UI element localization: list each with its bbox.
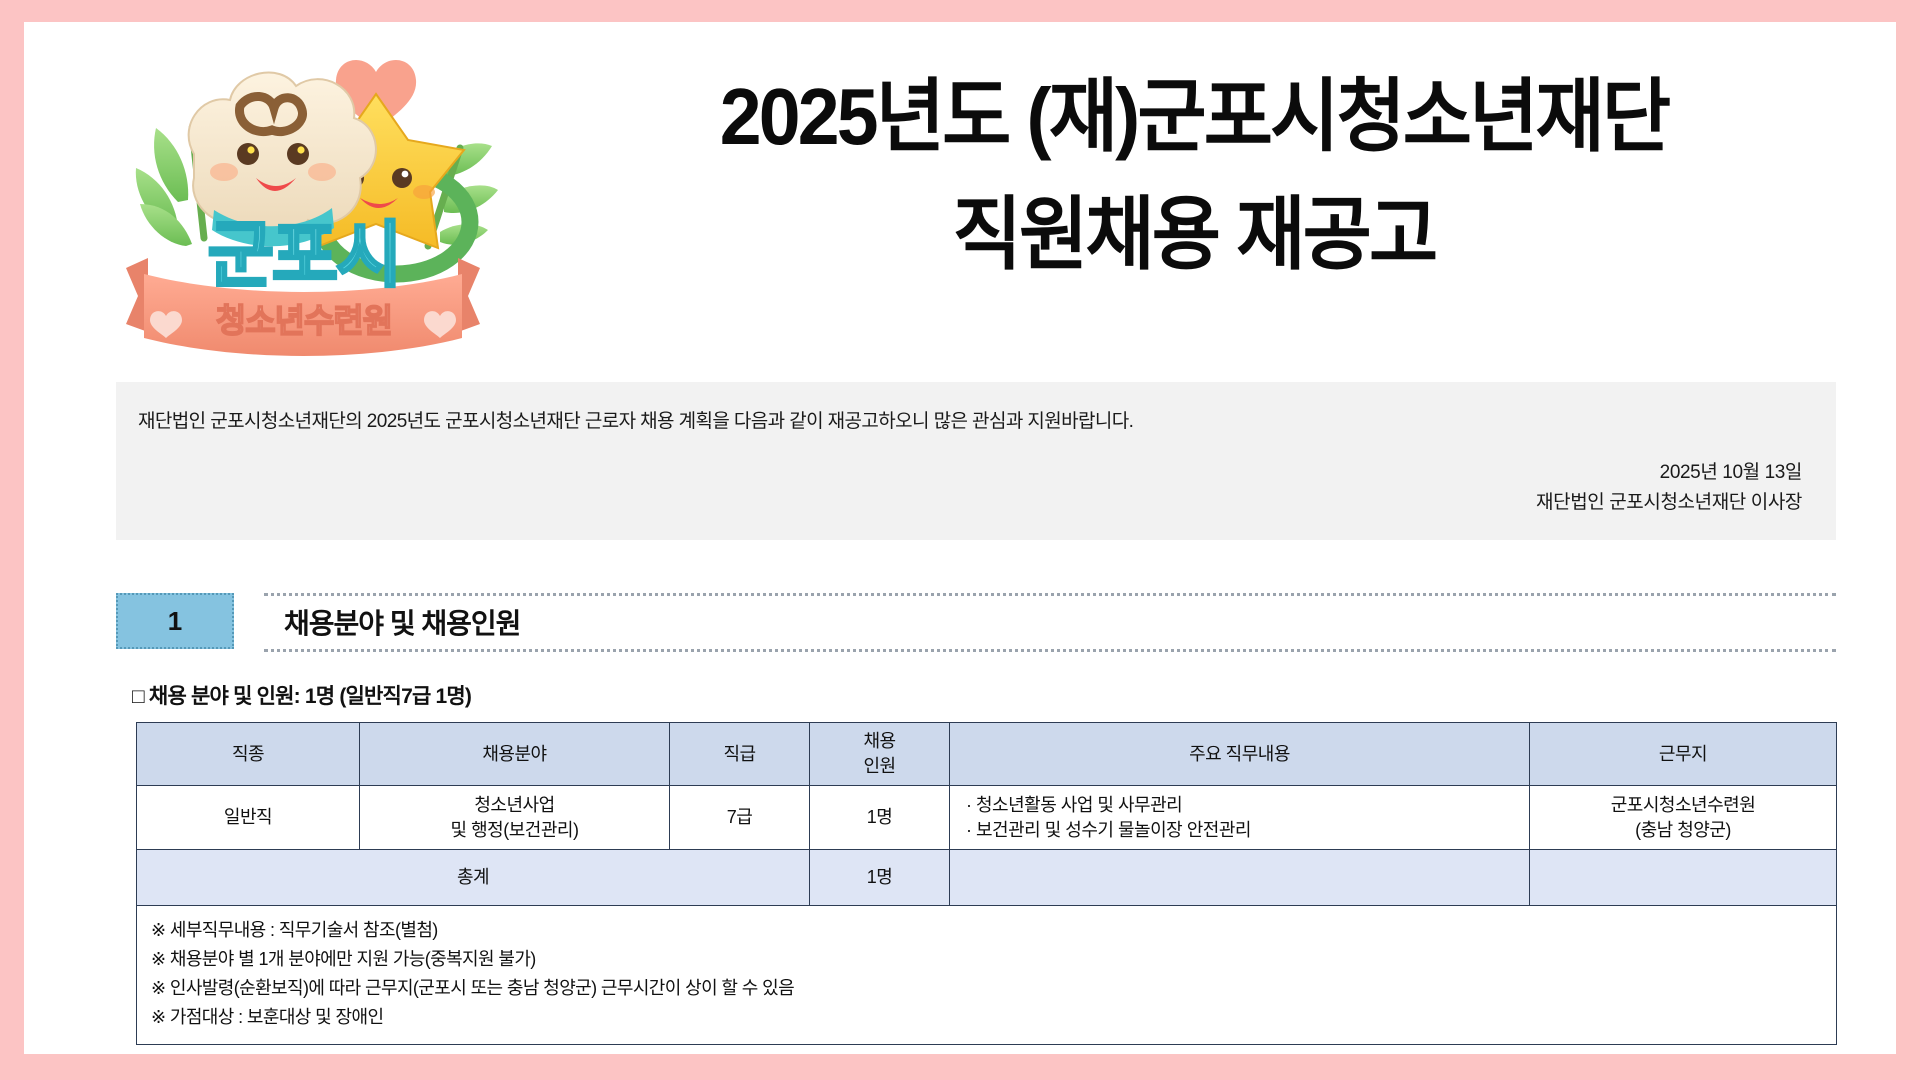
announcement-date: 2025년 10월 13일	[138, 458, 1802, 488]
note-line-2: ※ 채용분야 별 1개 분야에만 지원 가능(중복지원 불가)	[151, 945, 1822, 974]
cell-location-line-2: (충남 청양군)	[1538, 818, 1828, 843]
cell-field: 청소년사업 및 행정(보건관리)	[360, 786, 670, 850]
cell-field-line-2: 및 행정(보건관리)	[368, 818, 661, 843]
header-location: 근무지	[1530, 723, 1837, 786]
cell-location-line-1: 군포시청소년수련원	[1538, 793, 1828, 818]
cell-grade: 7급	[670, 786, 810, 850]
header-count-line-2: 인원	[818, 754, 941, 779]
title-line-2: 직원채용 재공고	[564, 176, 1824, 294]
cell-field-line-1: 청소년사업	[368, 793, 661, 818]
sub-heading: □ 채용 분야 및 인원: 1명 (일반직7급 1명)	[132, 680, 471, 710]
header-job-type: 직종	[137, 723, 360, 786]
header-count-line-1: 채용	[818, 729, 941, 754]
cell-duties: · 청소년활동 사업 및 사무관리 · 보건관리 및 성수기 물놀이장 안전관리	[950, 786, 1530, 850]
table-header-row: 직종 채용분야 직급 채용 인원 주요 직무내용 근무지	[137, 723, 1837, 786]
logo-ribbon-text: 청소년수련원	[216, 302, 392, 339]
cell-location: 군포시청소년수련원 (충남 청양군)	[1530, 786, 1837, 850]
intro-box: 재단법인 군포시청소년재단의 2025년도 군포시청소년재단 근로자 채용 계획…	[116, 382, 1836, 540]
table-row: 일반직 청소년사업 및 행정(보건관리) 7급 1명 · 청소년활동 사업 및 …	[137, 786, 1837, 850]
announcement-signer: 재단법인 군포시청소년재단 이사장	[138, 488, 1802, 518]
total-blank-location	[1530, 850, 1837, 906]
header-field: 채용분야	[360, 723, 670, 786]
document-sheet: 군포시 청소년수련원 2025년도 (재)군포시청소년재단 직원채용 재공고 재…	[24, 22, 1896, 1054]
section-header-1: 1 채용분야 및 채용인원	[116, 590, 1836, 654]
header-count: 채용 인원	[810, 723, 950, 786]
section-title: 채용분야 및 채용인원	[284, 602, 520, 642]
header-duties: 주요 직무내용	[950, 723, 1530, 786]
table-notes-row: ※ 세부직무내용 : 직무기술서 참조(별첨) ※ 채용분야 별 1개 분야에만…	[137, 906, 1837, 1045]
total-count: 1명	[810, 850, 950, 906]
recruitment-table: 직종 채용분야 직급 채용 인원 주요 직무내용 근무지 일반직	[136, 722, 1837, 1045]
page-frame: 군포시 청소년수련원 2025년도 (재)군포시청소년재단 직원채용 재공고 재…	[0, 0, 1920, 1080]
page-title: 2025년도 (재)군포시청소년재단 직원채용 재공고	[524, 58, 1864, 294]
document-header: 군포시 청소년수련원 2025년도 (재)군포시청소년재단 직원채용 재공고	[24, 22, 1896, 374]
cell-notes: ※ 세부직무내용 : 직무기술서 참조(별첨) ※ 채용분야 별 1개 분야에만…	[137, 906, 1837, 1045]
intro-signature-block: 2025년 10월 13일 재단법인 군포시청소년재단 이사장	[138, 458, 1802, 518]
section-rule-top	[264, 593, 1836, 596]
cell-duty-line-1: · 청소년활동 사업 및 사무관리	[966, 793, 1521, 818]
total-blank-duties	[950, 850, 1530, 906]
header-grade: 직급	[670, 723, 810, 786]
total-label: 총계	[137, 850, 810, 906]
section-number-badge: 1	[116, 593, 234, 649]
intro-body-text: 재단법인 군포시청소년재단의 2025년도 군포시청소년재단 근로자 채용 계획…	[138, 408, 1802, 436]
section-rule-bottom	[264, 649, 1836, 652]
note-line-4: ※ 가점대상 : 보훈대상 및 장애인	[151, 1003, 1822, 1032]
gunpo-youth-center-logo: 군포시 청소년수련원	[108, 32, 498, 372]
cell-job-type: 일반직	[137, 786, 360, 850]
title-line-1: 2025년도 (재)군포시청소년재단	[564, 58, 1824, 176]
note-line-1: ※ 세부직무내용 : 직무기술서 참조(별첨)	[151, 916, 1822, 945]
cell-count: 1명	[810, 786, 950, 850]
logo-city-text: 군포시	[208, 216, 401, 296]
table-total-row: 총계 1명	[137, 850, 1837, 906]
note-line-3: ※ 인사발령(순환보직)에 따라 근무지(군포시 또는 충남 청양군) 근무시간…	[151, 974, 1822, 1003]
cell-duty-line-2: · 보건관리 및 성수기 물놀이장 안전관리	[966, 818, 1521, 843]
